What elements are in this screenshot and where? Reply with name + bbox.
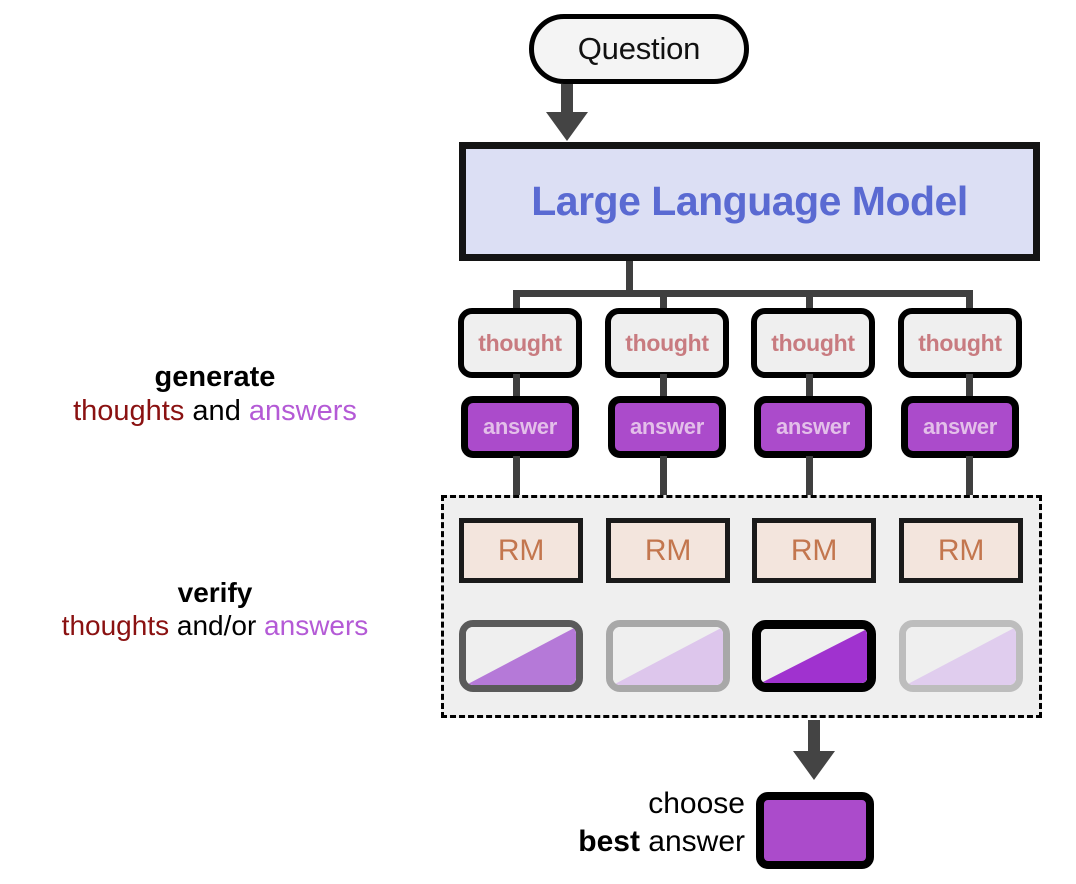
rm-box-3: RM [752, 518, 876, 583]
question-label: Question [578, 31, 700, 67]
generate-answers-word: answers [249, 395, 357, 427]
generate-lead: generate [0, 360, 430, 394]
thought-label: thought [478, 330, 561, 357]
answer-label: answer [776, 414, 850, 440]
rm-box-1: RM [459, 518, 583, 583]
rm-box-4: RM [899, 518, 1023, 583]
thought-box-3: thought [751, 308, 875, 378]
rm-label: RM [645, 534, 691, 568]
choose-rest-word: answer [640, 825, 745, 858]
verify-thoughts-word: thoughts [62, 610, 169, 641]
verify-caption: verify thoughts and/or answers [0, 576, 430, 642]
arrow-question-to-llm-head [546, 112, 588, 141]
answer-label: answer [483, 414, 557, 440]
connector-answer-panel-2 [660, 456, 667, 498]
final-answer-box [756, 792, 874, 869]
arrow-panel-to-final-head [793, 751, 835, 780]
score-fill-triangle-icon [906, 627, 1016, 685]
choose-best-word: best [578, 825, 640, 858]
rm-label: RM [498, 534, 544, 568]
score-gauge-2 [606, 620, 730, 692]
answer-label: answer [630, 414, 704, 440]
thought-label: thought [771, 330, 854, 357]
choose-caption: choose best answer [540, 785, 745, 860]
verify-sub: thoughts and/or answers [0, 609, 430, 642]
answer-box-4: answer [901, 396, 1019, 458]
generate-sub: thoughts and answers [0, 394, 430, 428]
answer-box-1: answer [461, 396, 579, 458]
tree-branch-3 [806, 290, 813, 310]
score-fill-triangle-icon [466, 627, 576, 685]
connector-answer-panel-4 [966, 456, 973, 498]
thought-box-4: thought [898, 308, 1022, 378]
thought-box-2: thought [605, 308, 729, 378]
score-fill-triangle-icon [613, 627, 723, 685]
connector-answer-panel-3 [806, 456, 813, 498]
score-gauge-3-selected [752, 620, 876, 692]
thought-label: thought [918, 330, 1001, 357]
diagram-canvas: Question Large Language Model thought th… [0, 0, 1076, 884]
question-box: Question [529, 14, 749, 84]
choose-line-2: best answer [540, 823, 745, 861]
choose-line-1: choose [540, 785, 745, 823]
tree-crossbar [513, 290, 973, 297]
score-gauge-4 [899, 620, 1023, 692]
score-fill-triangle-icon [761, 629, 867, 683]
rm-label: RM [938, 534, 984, 568]
tree-branch-2 [660, 290, 667, 310]
llm-label: Large Language Model [531, 178, 968, 225]
generate-caption: generate thoughts and answers [0, 360, 430, 428]
answer-box-3: answer [754, 396, 872, 458]
tree-branch-1 [513, 290, 520, 310]
score-gauge-1 [459, 620, 583, 692]
thought-label: thought [625, 330, 708, 357]
thought-box-1: thought [458, 308, 582, 378]
verify-answers-word: answers [264, 610, 368, 641]
connector-answer-panel-1 [513, 456, 520, 498]
verify-conjunction: and/or [169, 610, 264, 641]
tree-branch-4 [966, 290, 973, 310]
verify-lead: verify [0, 576, 430, 609]
rm-box-2: RM [606, 518, 730, 583]
generate-thoughts-word: thoughts [73, 395, 184, 427]
rm-label: RM [791, 534, 837, 568]
answer-box-2: answer [608, 396, 726, 458]
large-language-model-box: Large Language Model [459, 142, 1040, 261]
generate-conjunction: and [184, 395, 249, 427]
answer-label: answer [923, 414, 997, 440]
